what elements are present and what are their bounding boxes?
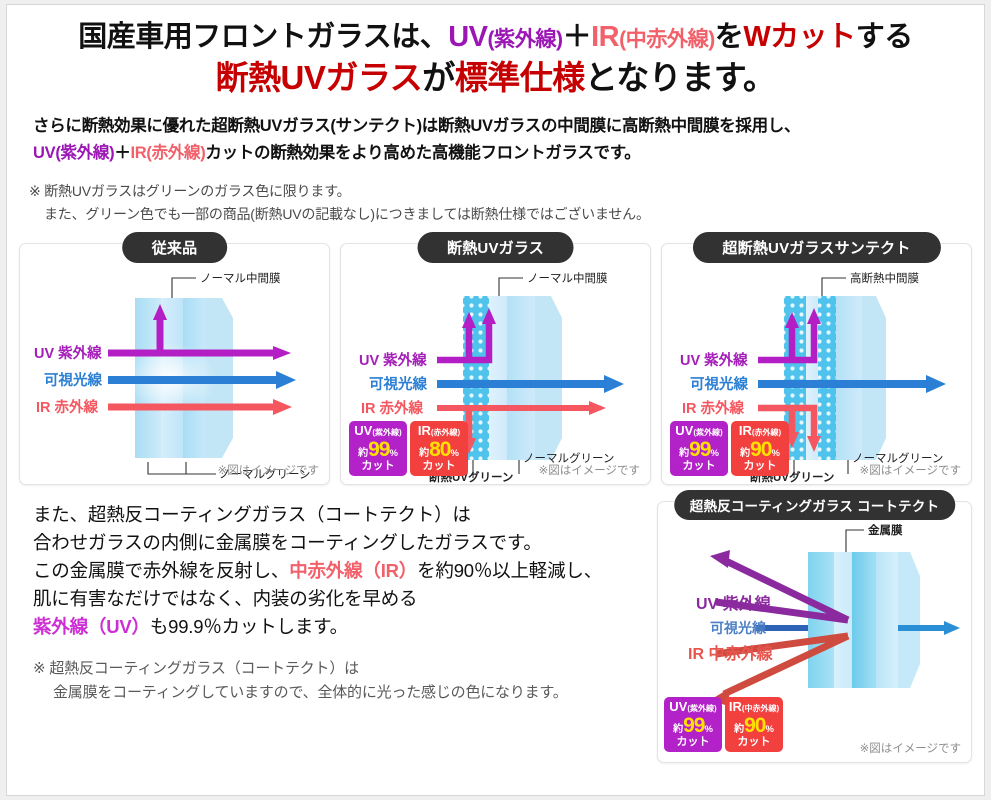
headline-uv: UV (448, 21, 487, 53)
coatect-ir-highlight: 中赤外線（IR） (289, 560, 417, 581)
lead-ir-label: IR(赤外線) (131, 144, 206, 162)
label-metal-film: 金属膜 (868, 523, 903, 537)
label-uv: UV 紫外線 (696, 594, 772, 613)
headline-ga: が (422, 59, 455, 96)
headline-line-1: 国産車用フロントガラスは、UV(紫外線)＋IR(中赤外線)をWカットする (7, 21, 984, 55)
card-super-insulated-image-note: ※図はイメージです (860, 462, 961, 478)
label-normal-interlayer: ノーマル中間膜 (527, 272, 608, 285)
bottom-section: また、超熱反コーティングガラス（コートテクト）は 合わせガラスの内側に金属膜をコ… (19, 501, 972, 763)
badge-uv-cut: UV(紫外線) 約99% カット (664, 697, 722, 752)
page-frame: 国産車用フロントガラスは、UV(紫外線)＋IR(中赤外線)をWカットする 断熱U… (6, 4, 985, 796)
headline-standard-spec: 標準仕様 (455, 59, 585, 96)
coatect-line-3: この金属膜で赤外線を反射し、中赤外線（IR）を約90％以上軽減し、 (33, 557, 647, 585)
lead-line-2: UV(紫外線)＋IR(赤外線)カットの断熱効果をより高めた高機能フロントガラスで… (33, 140, 984, 167)
card-super-insulated: 超断熱UVガラスサンテクト (661, 243, 972, 485)
headline-ir-paren: (中赤外線) (619, 28, 715, 51)
card-coatect-title: 超熱反コーティングガラス コートテクト (674, 490, 955, 520)
badge-uv-cut-label: カット (351, 461, 405, 472)
badge-ir-title: IR(赤外線) (733, 424, 787, 437)
badge-uv-title: UV(紫外線) (351, 424, 405, 437)
card-super-insulated-badges: UV(紫外線) 約99% カット IR(赤外線) 約90% カット (670, 421, 789, 476)
bottom-left-text: また、超熱反コーティングガラス（コートテクト）は 合わせガラスの内側に金属膜をコ… (19, 501, 647, 763)
label-visible: 可視光線 (710, 620, 767, 636)
headline-product-name: 断熱UVガラス (216, 59, 423, 96)
label-normal-interlayer: ノーマル中間膜 (200, 272, 281, 285)
badge-ir-cut: IR(赤外線) 約90% カット (731, 421, 789, 476)
coatect-line-4: 肌に有害なだけではなく、内装の劣化を早める (33, 585, 647, 613)
label-uv: UV 紫外線 (680, 351, 748, 369)
top-notes: ※ 断熱UVガラスはグリーンのガラス色に限ります。 また、グリーン色でも一部の商… (29, 180, 984, 225)
badge-uv-cut: UV(紫外線) 約99% カット (349, 421, 407, 476)
bottom-note-line-1: ※ 超熱反コーティングガラス（コートテクト）は (33, 657, 647, 681)
lead-plus: ＋ (114, 144, 130, 162)
headline-wo: を (715, 21, 744, 53)
coatect-description: また、超熱反コーティングガラス（コートテクト）は 合わせガラスの内側に金属膜をコ… (33, 501, 647, 642)
card-coatect: 超熱反コーティングガラス コートテクト (657, 501, 972, 763)
headline-tail: となります。 (585, 59, 776, 96)
badge-uv-value: 約99% (666, 715, 720, 736)
headline-line-2: 断熱UVガラスが標準仕様となります。 (7, 59, 984, 97)
headline-suru: する (856, 21, 913, 53)
card-conventional-image-note: ※図はイメージです (218, 462, 319, 478)
label-visible: 可視光線 (369, 375, 427, 393)
badge-ir-value: 約90% (727, 715, 781, 736)
label-visible: 可視光線 (690, 375, 748, 393)
label-visible: 可視光線 (44, 371, 102, 389)
label-ir: IR 赤外線 (682, 399, 745, 417)
label-ir: IR 赤外線 (361, 399, 424, 417)
badge-ir-title: IR(中赤外線) (727, 700, 781, 713)
coatect-uv-highlight: 紫外線（UV） (33, 616, 150, 637)
badge-ir-cut-label: カット (727, 737, 781, 748)
card-conventional-diagram: ノーマル中間膜 ノーマルグリーン (20, 256, 329, 484)
lead-line-2-tail: カットの断熱効果をより高めた高機能フロントガラスです。 (205, 144, 640, 162)
badge-uv-value: 約99% (351, 439, 405, 460)
card-conventional: 従来品 (19, 243, 330, 485)
label-ir: IR 中赤外線 (688, 644, 773, 663)
badge-uv-title: UV(紫外線) (672, 424, 726, 437)
coatect-line-1: また、超熱反コーティングガラス（コートテクト）は (33, 501, 647, 529)
label-ir: IR 赤外線 (36, 398, 99, 416)
card-uv-insulated-image-note: ※図はイメージです (539, 462, 640, 478)
bottom-note-line-2: 金属膜をコーティングしていますので、全体的に光った感じの色になります。 (33, 681, 647, 705)
card-uv-insulated: 断熱UVガラス (340, 243, 651, 485)
badge-uv-cut-label: カット (666, 737, 720, 748)
lead-paragraph: さらに断熱効果に優れた超断熱UVガラス(サンテクト)は断熱UVガラスの中間膜に高… (33, 113, 984, 166)
lead-uv-label: UV(紫外線) (33, 144, 114, 162)
headline-uv-paren: (紫外線) (488, 28, 563, 51)
badge-uv-title: UV(紫外線) (666, 700, 720, 713)
label-uv: UV 紫外線 (359, 351, 427, 369)
label-uv: UV 紫外線 (34, 344, 102, 362)
coatect-line-5: 紫外線（UV）も99.9％カットします。 (33, 613, 647, 641)
badge-uv-value: 約99% (672, 439, 726, 460)
label-high-interlayer: 高断熱中間膜 (850, 272, 919, 285)
headline: 国産車用フロントガラスは、UV(紫外線)＋IR(中赤外線)をWカットする 断熱U… (7, 5, 984, 97)
badge-uv-cut: UV(紫外線) 約99% カット (670, 421, 728, 476)
badge-ir-cut: IR(赤外線) 約80% カット (410, 421, 468, 476)
badge-ir-value: 約80% (412, 439, 466, 460)
headline-ir: IR (591, 21, 619, 53)
badge-ir-value: 約90% (733, 439, 787, 460)
lead-line-1: さらに断熱効果に優れた超断熱UVガラス(サンテクト)は断熱UVガラスの中間膜に高… (33, 113, 984, 140)
headline-segment-intro: 国産車用フロントガラスは、 (78, 21, 448, 53)
card-uv-insulated-badges: UV(紫外線) 約99% カット IR(赤外線) 約80% カット (349, 421, 468, 476)
badge-ir-title: IR(赤外線) (412, 424, 466, 437)
top-note-line-2: また、グリーン色でも一部の商品(断熱UVの記載なし)につきましては断熱仕様ではご… (29, 203, 984, 226)
badge-ir-cut-label: カット (412, 461, 466, 472)
badge-ir-cut: IR(中赤外線) 約90% カット (725, 697, 783, 752)
badge-ir-cut-label: カット (733, 461, 787, 472)
bottom-notes: ※ 超熱反コーティングガラス（コートテクト）は 金属膜をコーティングしていますの… (33, 657, 647, 705)
coatect-line-2: 合わせガラスの内側に金属膜をコーティングしたガラスです。 (33, 529, 647, 557)
badge-uv-cut-label: カット (672, 461, 726, 472)
headline-wcut: Wカット (743, 21, 855, 53)
comparison-card-row: 従来品 (19, 243, 972, 485)
card-coatect-image-note: ※図はイメージです (860, 740, 961, 756)
headline-plus: ＋ (563, 21, 592, 53)
top-note-line-1: ※ 断熱UVガラスはグリーンのガラス色に限ります。 (29, 180, 984, 203)
card-coatect-badges: UV(紫外線) 約99% カット IR(中赤外線) 約90% カット (664, 697, 783, 752)
